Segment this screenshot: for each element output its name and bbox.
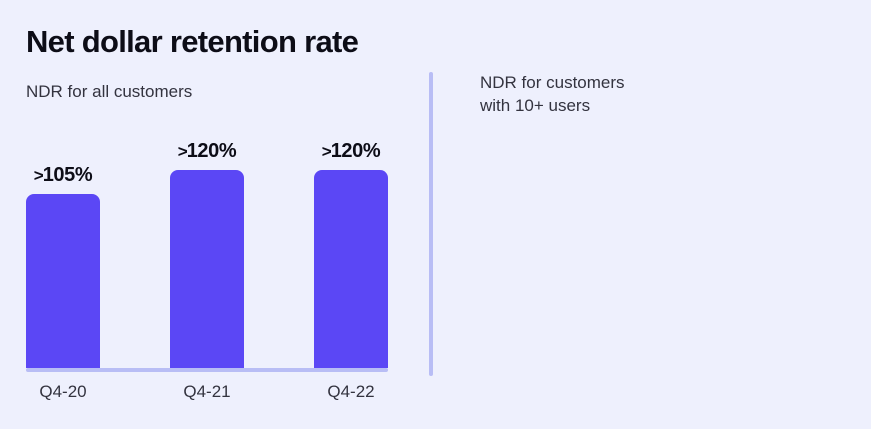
chart-figure: Net dollar retention rate NDR for all cu… bbox=[0, 0, 871, 429]
bar-rect[interactable] bbox=[170, 170, 244, 368]
bar-category-label: Q4-21 bbox=[183, 382, 230, 402]
bar-rect[interactable] bbox=[314, 170, 388, 368]
panel-subtitle-left: NDR for all customers bbox=[26, 80, 192, 103]
bar-series-left: >105% Q4-20 >120% Q4-21 >120% Q4-22 bbox=[26, 110, 388, 368]
bar-group[interactable]: >120% Q4-22 bbox=[314, 110, 388, 368]
bar-group[interactable]: >120% Q4-21 bbox=[170, 110, 244, 368]
chart-panel-10plus-users: NDR for customers with 10+ users >115% Q… bbox=[431, 0, 871, 429]
plot-area-left: >105% Q4-20 >120% Q4-21 >120% Q4-22 bbox=[26, 110, 388, 368]
bar-category-label: Q4-22 bbox=[327, 382, 374, 402]
x-axis-baseline-left bbox=[26, 368, 388, 372]
panel-subtitle-right: NDR for customers with 10+ users bbox=[480, 71, 625, 117]
bar-category-label: Q4-20 bbox=[39, 382, 86, 402]
bar-rect[interactable] bbox=[26, 194, 100, 368]
chart-panel-all-customers: NDR for all customers >105% Q4-20 >120% … bbox=[0, 0, 431, 429]
bar-value-label: >120% bbox=[178, 140, 237, 163]
bar-value-label: >105% bbox=[34, 164, 93, 187]
bar-value-label: >120% bbox=[322, 140, 381, 163]
bar-group[interactable]: >105% Q4-20 bbox=[26, 110, 100, 368]
